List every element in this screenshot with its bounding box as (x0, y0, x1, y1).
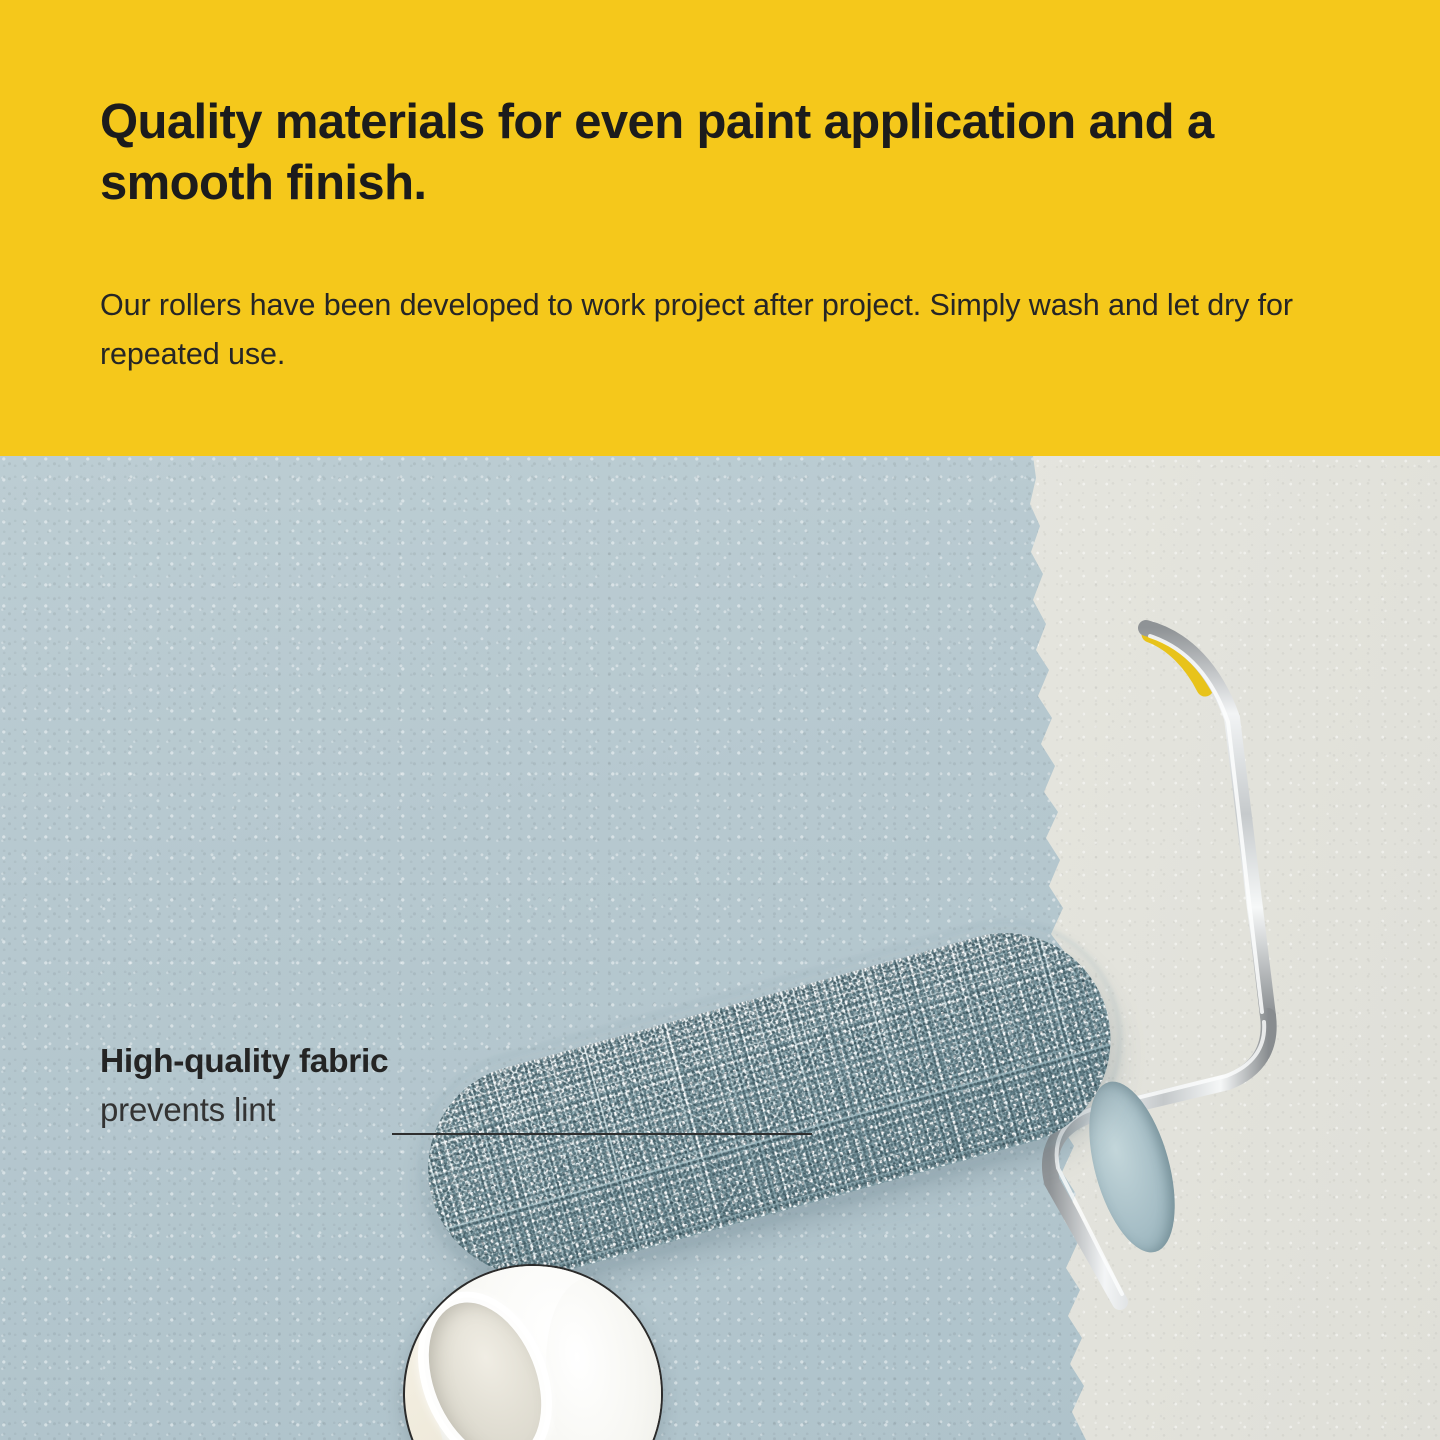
roller-nap (404, 909, 1135, 1300)
infographic-page: High-quality fabric prevents lint Polypr… (0, 0, 1440, 1440)
product-photo: High-quality fabric prevents lint Polypr… (0, 456, 1440, 1440)
leader-line-fabric (392, 1133, 812, 1135)
callout-fabric-title: High-quality fabric (100, 1042, 388, 1082)
page-title: Quality materials for even paint applica… (100, 92, 1220, 215)
header-band: Quality materials for even paint applica… (0, 0, 1440, 456)
roller-assembly (0, 456, 1440, 1440)
callout-high-quality-fabric: High-quality fabric prevents lint (100, 1042, 388, 1130)
page-subtitle: Our rollers have been developed to work … (100, 281, 1360, 380)
callout-fabric-subtitle: prevents lint (100, 1090, 388, 1130)
